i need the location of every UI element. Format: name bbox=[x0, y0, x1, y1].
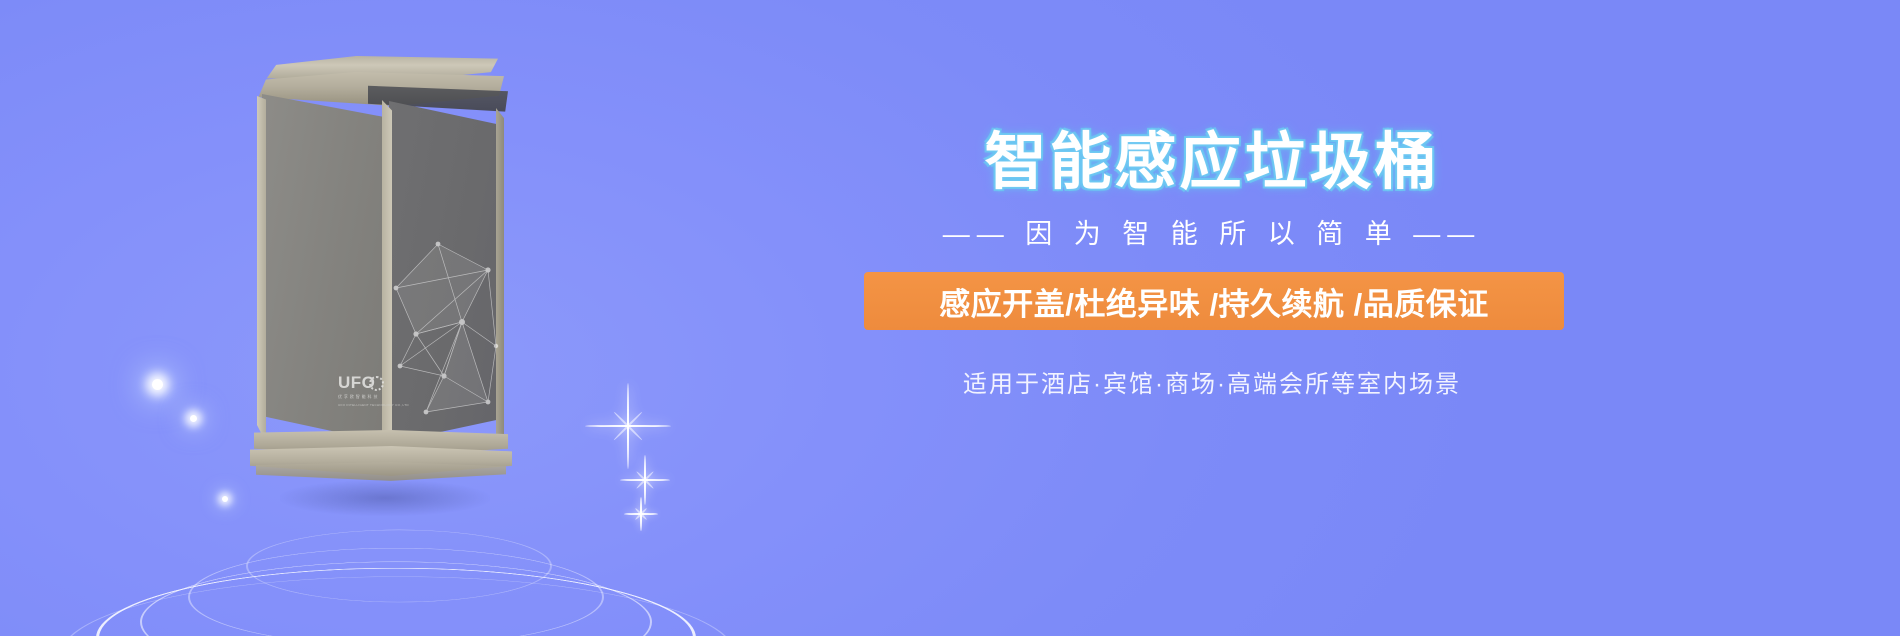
brand-logo-subtitle-cn: 优 孚 欧 智 能 科 技 bbox=[338, 394, 378, 400]
ripple-ring-2 bbox=[140, 562, 652, 636]
glow-particle-1 bbox=[152, 379, 163, 390]
banner-subtitle: —— 因 为 智 能 所 以 简 单 —— bbox=[872, 212, 1552, 251]
ripple-ring-1 bbox=[96, 568, 696, 636]
ripple-ring-3 bbox=[188, 548, 604, 636]
sparkle-star-3 bbox=[624, 497, 658, 531]
feature-highlight-bar: 感应开盖/杜绝异味 /持久续航 /品质保证 bbox=[864, 272, 1564, 330]
tech-network-graphic bbox=[392, 226, 500, 421]
feature-highlight-text: 感应开盖/杜绝异味 /持久续航 /品质保证 bbox=[939, 279, 1489, 324]
product-image-smart-trash-bin: UFO 优 孚 欧 智 能 科 技 UFO INTELLIGENT TECHNO… bbox=[250, 56, 510, 476]
promo-banner: UFO 优 孚 欧 智 能 科 技 UFO INTELLIGENT TECHNO… bbox=[0, 0, 1900, 636]
ripple-ring-outer bbox=[60, 576, 736, 636]
brand-logo-ring-icon bbox=[369, 376, 384, 391]
product-shadow bbox=[280, 480, 490, 516]
bin-edge-left bbox=[257, 96, 266, 446]
banner-copy: 智能感应垃圾桶 —— 因 为 智 能 所 以 简 单 —— 感应开盖/杜绝异味 … bbox=[880, 0, 1900, 636]
glow-particle-2 bbox=[190, 415, 197, 422]
brand-logo: UFO 优 孚 欧 智 能 科 技 UFO INTELLIGENT TECHNO… bbox=[338, 374, 402, 418]
sparkle-star-2 bbox=[620, 455, 670, 505]
sparkle-star-1 bbox=[585, 383, 671, 469]
banner-title: 智能感应垃圾桶 bbox=[872, 128, 1552, 198]
brand-logo-subtitle-en: UFO INTELLIGENT TECHNOLOGY CO.,LTD bbox=[338, 403, 409, 407]
product-stage: UFO 优 孚 欧 智 能 科 技 UFO INTELLIGENT TECHNO… bbox=[0, 0, 820, 636]
glow-particle-3 bbox=[222, 496, 228, 502]
usage-scenario-text: 适用于酒店·宾馆·商场·高端会所等室内场景 bbox=[872, 364, 1552, 399]
ripple-ring-inner bbox=[246, 530, 552, 603]
